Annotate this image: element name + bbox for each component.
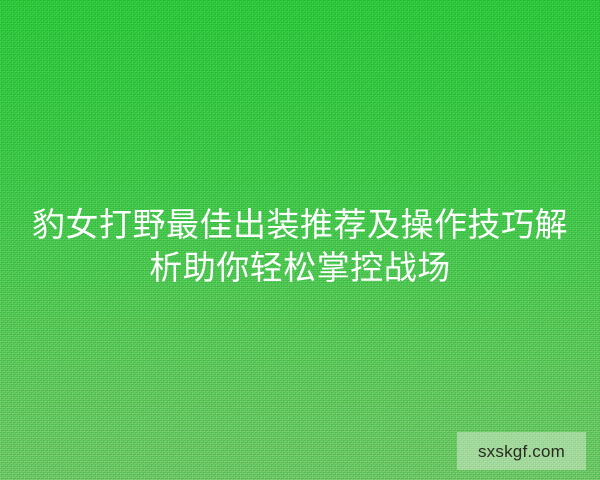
title-block: 豹女打野最佳出装推荐及操作技巧解析助你轻松掌控战场 <box>0 203 600 289</box>
watermark-text: sxskgf.com <box>478 443 565 460</box>
banner-title: 豹女打野最佳出装推荐及操作技巧解析助你轻松掌控战场 <box>22 203 578 289</box>
banner-image: 豹女打野最佳出装推荐及操作技巧解析助你轻松掌控战场 sxskgf.com <box>0 0 600 480</box>
watermark-badge: sxskgf.com <box>457 432 586 470</box>
